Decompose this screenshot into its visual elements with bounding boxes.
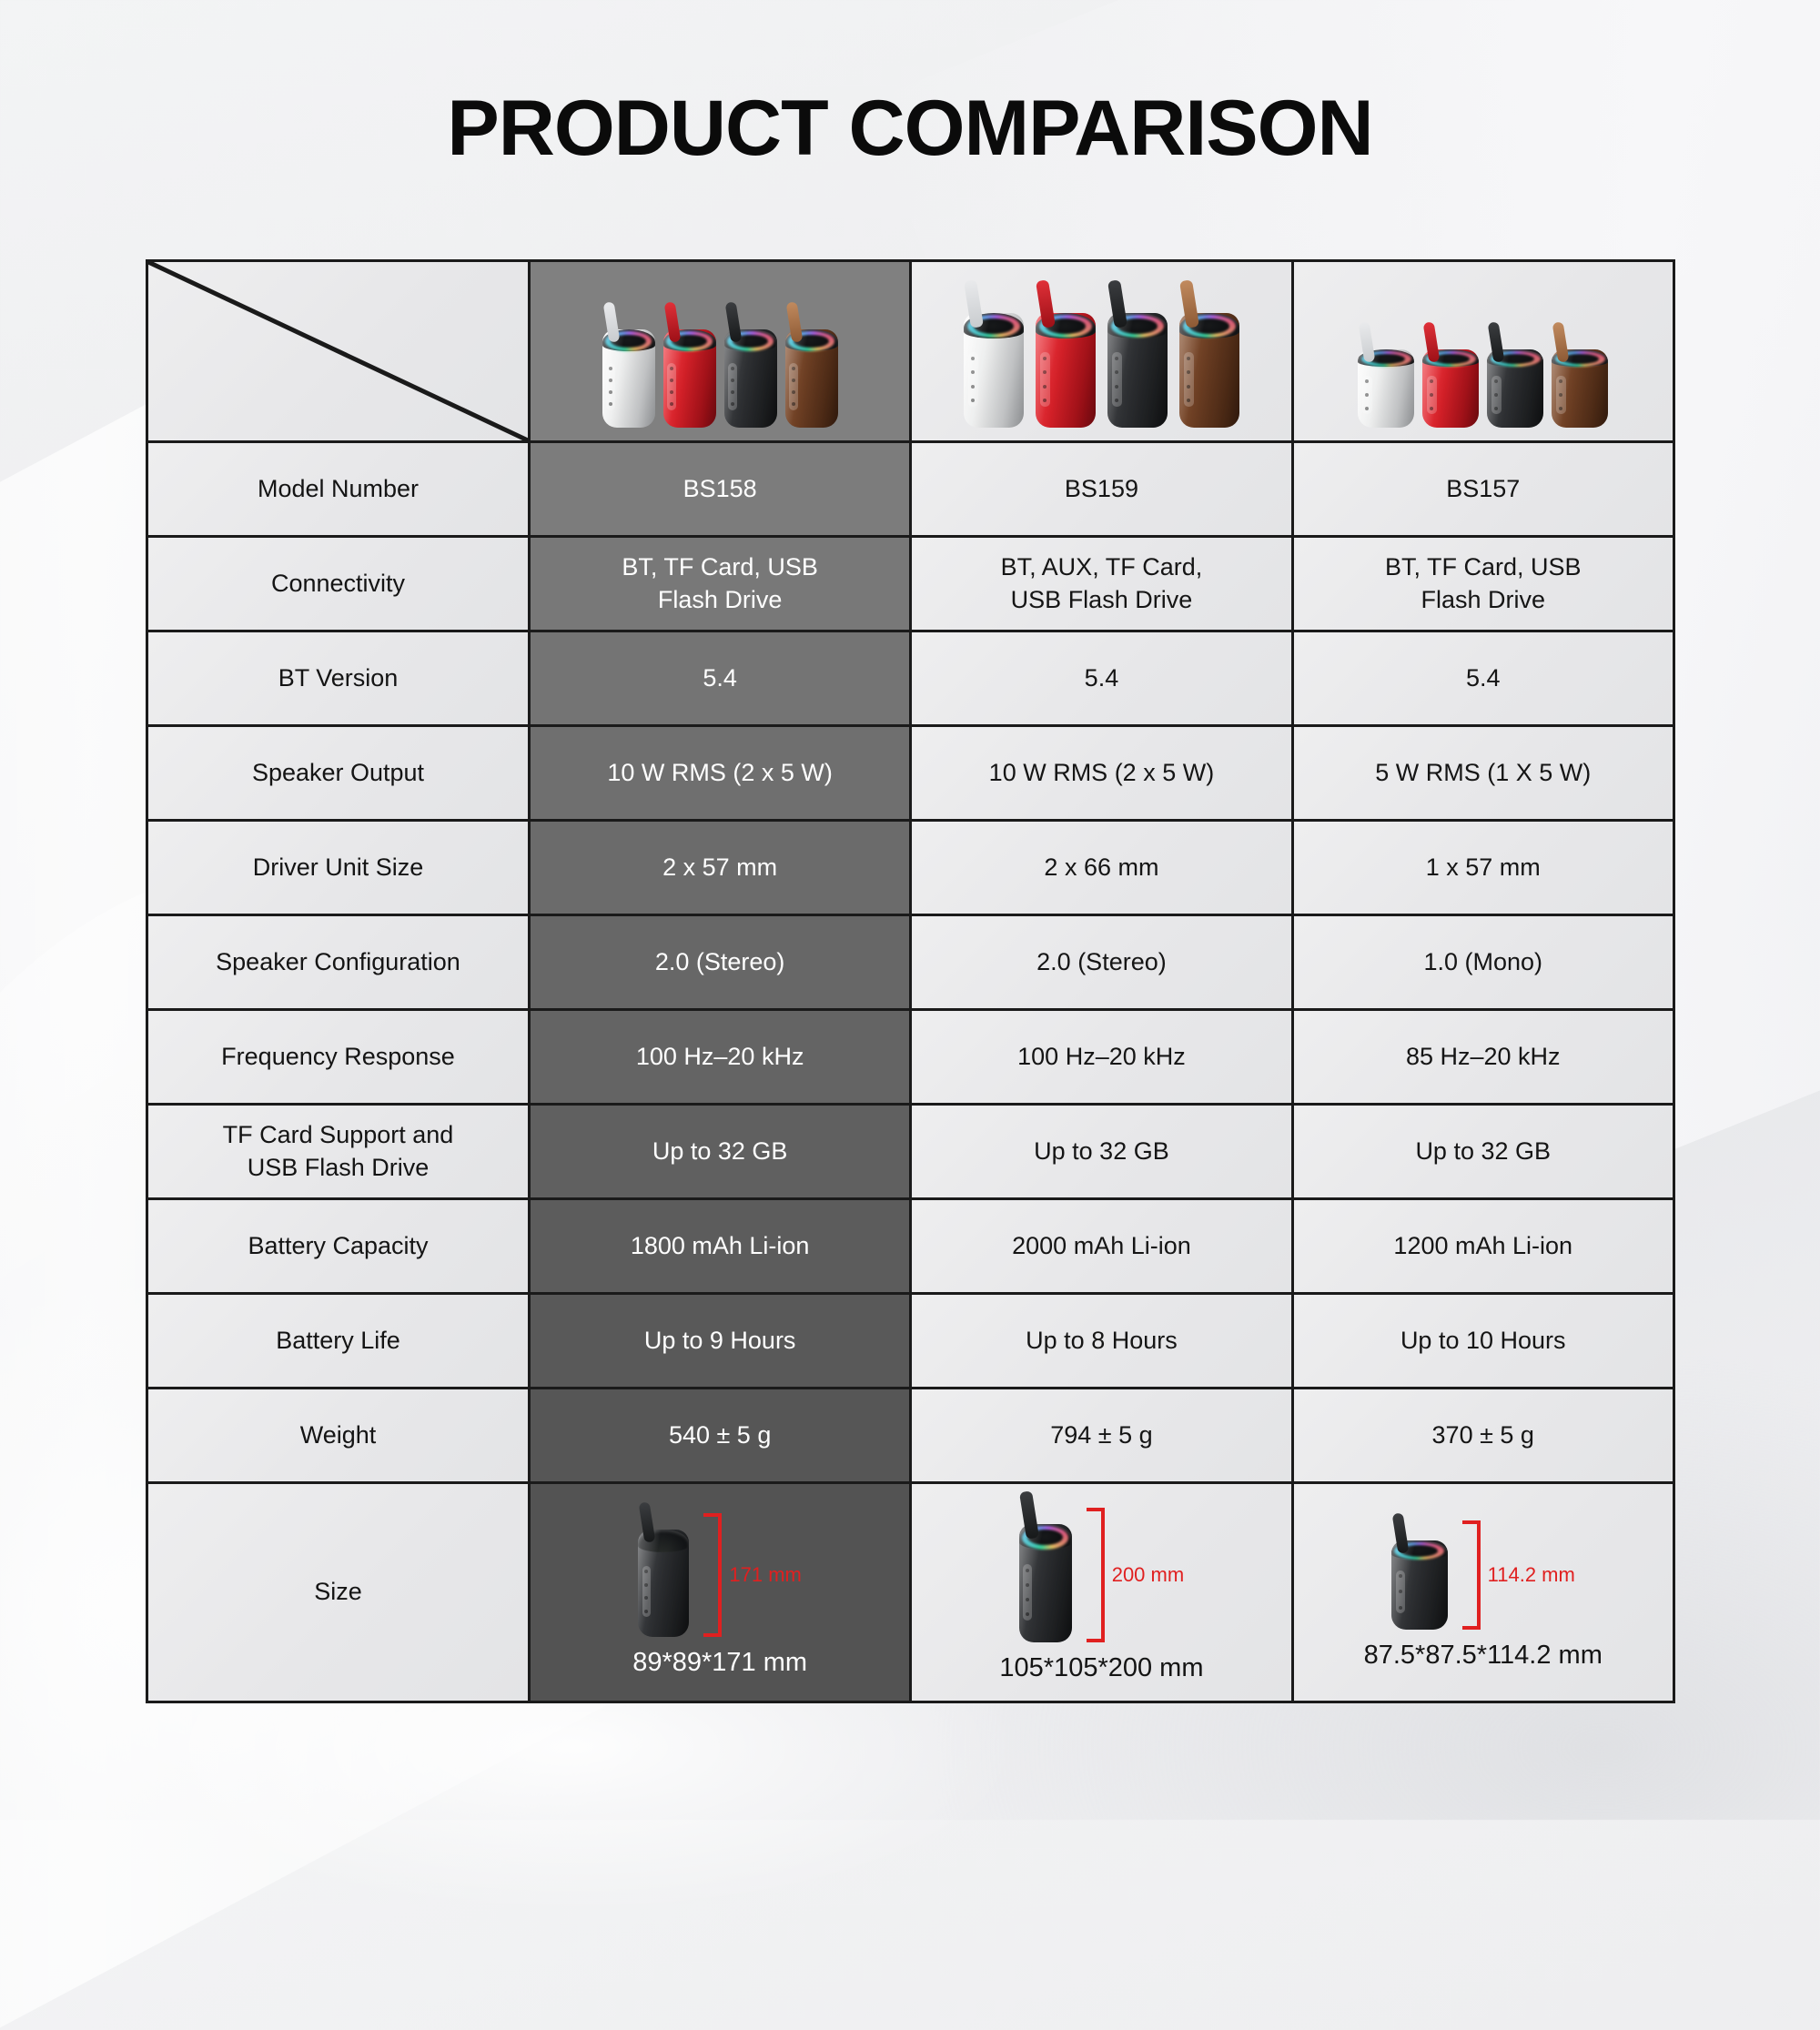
row-label-weight: Weight <box>147 1389 530 1483</box>
dimension-bracket-icon <box>1462 1520 1481 1630</box>
diagonal-slash-icon <box>148 262 528 440</box>
cell-bs157-size: 114.2 mm 87.5*87.5*114.2 mm <box>1292 1483 1673 1702</box>
size-dimensions-text: 89*89*171 mm <box>632 1648 807 1678</box>
page-title: PRODUCT COMPARISON <box>0 89 1820 167</box>
size-height-callout: 200 mm <box>1112 1563 1184 1587</box>
speaker-black-icon <box>638 1530 689 1637</box>
speaker-red-icon <box>663 329 716 428</box>
product-image-cell-bs158 <box>530 261 911 442</box>
cell-bs158-frequency-response: 100 Hz–20 kHz <box>530 1010 911 1105</box>
table-row: BT Version 5.4 5.4 5.4 <box>147 631 1674 726</box>
cell-bs158-driver-unit-size: 2 x 57 mm <box>530 821 911 915</box>
cell-bs159-weight: 794 ± 5 g <box>911 1389 1292 1483</box>
cell-bs159-bt-version: 5.4 <box>911 631 1292 726</box>
cell-bs157-weight: 370 ± 5 g <box>1292 1389 1673 1483</box>
row-label-battery-capacity: Battery Capacity <box>147 1199 530 1294</box>
table-row: TF Card Support andUSB Flash Drive Up to… <box>147 1105 1674 1199</box>
speaker-black-icon <box>1391 1540 1448 1630</box>
size-figure-bs157: 114.2 mm 87.5*87.5*114.2 mm <box>1294 1484 1673 1701</box>
speaker-black-icon <box>1019 1524 1072 1642</box>
product-comparison-table: Model Number BS158 BS159 BS157 Connectiv… <box>146 259 1675 1703</box>
row-label-frequency-response: Frequency Response <box>147 1010 530 1105</box>
cell-bs159-connectivity: BT, AUX, TF Card,USB Flash Drive <box>911 537 1292 631</box>
size-figure-bs159: 200 mm 105*105*200 mm <box>912 1484 1290 1701</box>
cell-bs157-speaker-configuration: 1.0 (Mono) <box>1292 915 1673 1010</box>
speaker-black-icon <box>1107 313 1168 428</box>
speaker-brown-icon <box>785 329 838 428</box>
cell-bs158-tf-card-support: Up to 32 GB <box>530 1105 911 1199</box>
table-row: Battery Capacity 1800 mAh Li-ion 2000 mA… <box>147 1199 1674 1294</box>
row-label-tf-card-support: TF Card Support andUSB Flash Drive <box>147 1105 530 1199</box>
table-row: Battery Life Up to 9 Hours Up to 8 Hours… <box>147 1294 1674 1389</box>
speaker-white-icon <box>1358 349 1414 428</box>
size-figure-bs158: 171 mm 89*89*171 mm <box>531 1484 909 1701</box>
size-dimensions-text: 87.5*87.5*114.2 mm <box>1364 1641 1603 1671</box>
cell-bs157-battery-life: Up to 10 Hours <box>1292 1294 1673 1389</box>
speaker-white-icon <box>964 313 1024 428</box>
speaker-black-icon <box>1487 349 1543 428</box>
cell-bs157-driver-unit-size: 1 x 57 mm <box>1292 821 1673 915</box>
cell-bs157-battery-capacity: 1200 mAh Li-ion <box>1292 1199 1673 1294</box>
product-image-cell-bs157 <box>1292 261 1673 442</box>
table-row: Speaker Configuration 2.0 (Stereo) 2.0 (… <box>147 915 1674 1010</box>
size-dimensions-text: 105*105*200 mm <box>999 1653 1203 1683</box>
table-header-row <box>147 261 1674 442</box>
cell-bs157-speaker-output: 5 W RMS (1 X 5 W) <box>1292 726 1673 821</box>
table-row: Speaker Output 10 W RMS (2 x 5 W) 10 W R… <box>147 726 1674 821</box>
cell-bs158-connectivity: BT, TF Card, USBFlash Drive <box>530 537 911 631</box>
speaker-black-icon <box>724 329 777 428</box>
size-height-callout: 171 mm <box>729 1563 801 1587</box>
speaker-brown-icon <box>1179 313 1239 428</box>
cell-bs159-tf-card-support: Up to 32 GB <box>911 1105 1292 1199</box>
table-row: Model Number BS158 BS159 BS157 <box>147 442 1674 537</box>
cell-bs157-bt-version: 5.4 <box>1292 631 1673 726</box>
cell-bs158-speaker-output: 10 W RMS (2 x 5 W) <box>530 726 911 821</box>
cell-bs158-model-number: BS158 <box>530 442 911 537</box>
row-label-model-number: Model Number <box>147 442 530 537</box>
cell-bs159-frequency-response: 100 Hz–20 kHz <box>911 1010 1292 1105</box>
cell-bs157-connectivity: BT, TF Card, USBFlash Drive <box>1292 537 1673 631</box>
cell-bs159-size: 200 mm 105*105*200 mm <box>911 1483 1292 1702</box>
speaker-brown-icon <box>1552 349 1608 428</box>
row-label-size: Size <box>147 1483 530 1702</box>
row-label-driver-unit-size: Driver Unit Size <box>147 821 530 915</box>
cell-bs158-bt-version: 5.4 <box>530 631 911 726</box>
cell-bs159-battery-life: Up to 8 Hours <box>911 1294 1292 1389</box>
speaker-color-variants-bs159 <box>912 262 1290 440</box>
cell-bs158-speaker-configuration: 2.0 (Stereo) <box>530 915 911 1010</box>
cell-bs159-speaker-output: 10 W RMS (2 x 5 W) <box>911 726 1292 821</box>
dimension-bracket-icon <box>1087 1508 1105 1642</box>
speaker-red-icon <box>1422 349 1479 428</box>
cell-bs158-weight: 540 ± 5 g <box>530 1389 911 1483</box>
row-label-speaker-output: Speaker Output <box>147 726 530 821</box>
table-row: Driver Unit Size 2 x 57 mm 2 x 66 mm 1 x… <box>147 821 1674 915</box>
cell-bs157-model-number: BS157 <box>1292 442 1673 537</box>
cell-bs158-battery-capacity: 1800 mAh Li-ion <box>530 1199 911 1294</box>
cell-bs158-size: 171 mm 89*89*171 mm <box>530 1483 911 1702</box>
cell-bs159-driver-unit-size: 2 x 66 mm <box>911 821 1292 915</box>
row-label-connectivity: Connectivity <box>147 537 530 631</box>
table-row: Weight 540 ± 5 g 794 ± 5 g 370 ± 5 g <box>147 1389 1674 1483</box>
cell-bs157-frequency-response: 85 Hz–20 kHz <box>1292 1010 1673 1105</box>
speaker-red-icon <box>1036 313 1096 428</box>
cell-bs159-battery-capacity: 2000 mAh Li-ion <box>911 1199 1292 1294</box>
speaker-white-icon <box>602 329 655 428</box>
table-row: Frequency Response 100 Hz–20 kHz 100 Hz–… <box>147 1010 1674 1105</box>
speaker-color-variants-bs157 <box>1294 262 1673 440</box>
row-label-speaker-configuration: Speaker Configuration <box>147 915 530 1010</box>
row-label-battery-life: Battery Life <box>147 1294 530 1389</box>
size-height-callout: 114.2 mm <box>1488 1563 1575 1587</box>
speaker-color-variants-bs158 <box>531 262 909 440</box>
product-image-cell-bs159 <box>911 261 1292 442</box>
row-label-bt-version: BT Version <box>147 631 530 726</box>
cell-bs159-speaker-configuration: 2.0 (Stereo) <box>911 915 1292 1010</box>
dimension-bracket-icon <box>703 1513 722 1637</box>
cell-bs158-battery-life: Up to 9 Hours <box>530 1294 911 1389</box>
table-row-size: Size 171 mm 89*89*171 mm <box>147 1483 1674 1702</box>
cell-bs157-tf-card-support: Up to 32 GB <box>1292 1105 1673 1199</box>
table-row: Connectivity BT, TF Card, USBFlash Drive… <box>147 537 1674 631</box>
corner-diagonal-cell <box>147 261 530 442</box>
cell-bs159-model-number: BS159 <box>911 442 1292 537</box>
